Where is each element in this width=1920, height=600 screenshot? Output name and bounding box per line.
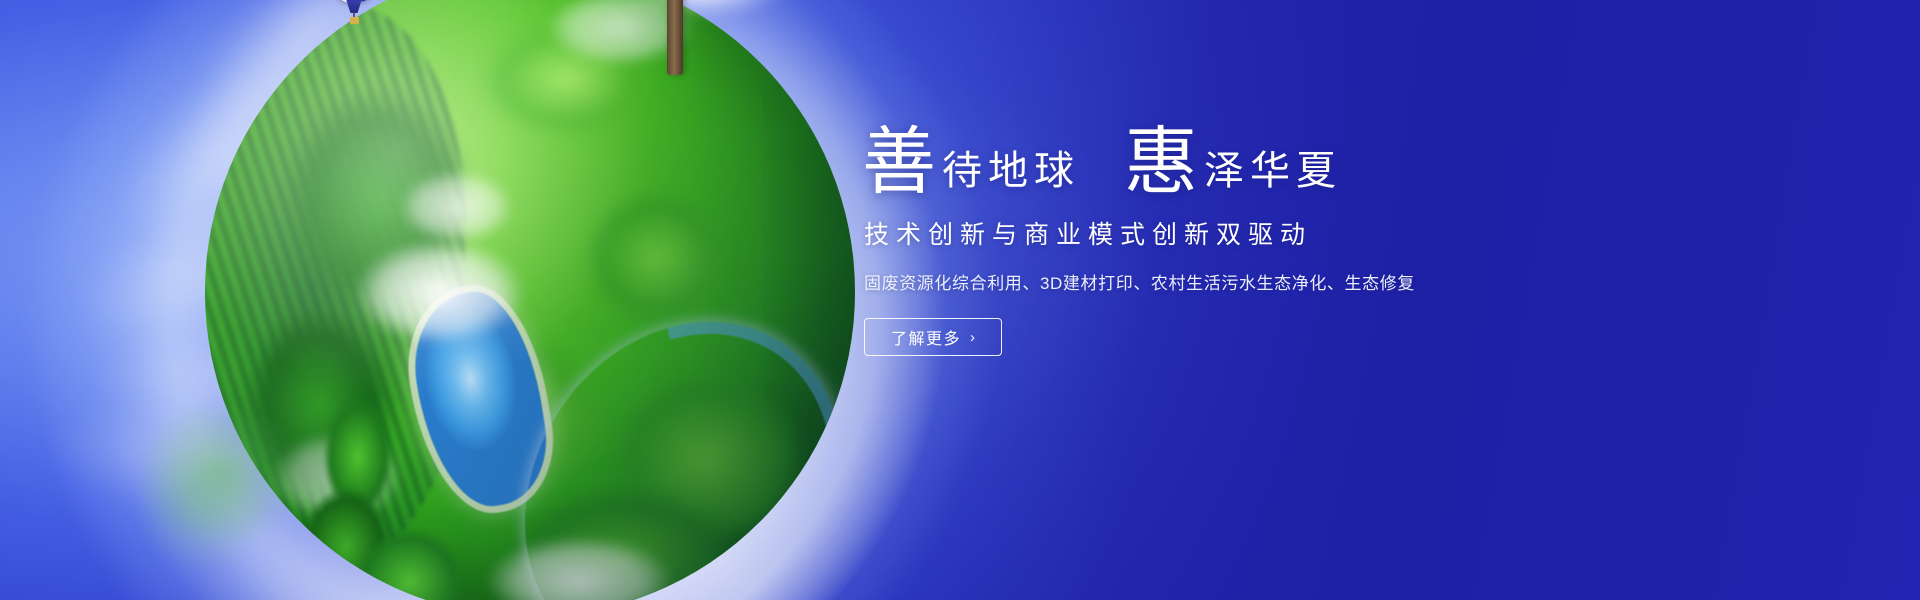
chevron-right-icon: › bbox=[970, 329, 975, 346]
atmosphere-ring-icon bbox=[85, 0, 945, 600]
balloon-rope bbox=[353, 12, 355, 19]
learn-more-button[interactable]: 了解更多 › bbox=[864, 318, 1002, 356]
cloud-streak-icon bbox=[48, 263, 493, 472]
birds-flock-icon: ︶ ︶ ︶ ︶ ︶ ︶ ︶ ︶ ︶ ︶ ︶ ︶ bbox=[715, 0, 855, 15]
small-tree-icon bbox=[355, 527, 465, 600]
river-icon bbox=[461, 262, 855, 600]
hero-description: 固废资源化综合利用、3D建材打印、农村生活污水生态净化、生态修复 bbox=[864, 269, 1502, 294]
tree-mist bbox=[595, 0, 815, 25]
headline-small-text-2: 泽华夏 bbox=[1204, 149, 1342, 199]
grass-patch-icon bbox=[244, 305, 394, 505]
balloon-basket bbox=[350, 17, 359, 24]
grass-patch-icon bbox=[504, 487, 744, 600]
hero-banner: ︶ ︶ ︶ ︶ ︶ ︶ ︶ ︶ ︶ ︶ ︶ ︶ 善 待地球 惠 泽华夏 技术创新… bbox=[0, 0, 1920, 600]
small-tree-icon bbox=[323, 397, 393, 517]
balloon-skirt bbox=[346, 0, 362, 13]
grass-patch-icon bbox=[478, 19, 658, 139]
cloud-streak-icon bbox=[121, 0, 489, 206]
tree-icon bbox=[555, 0, 805, 75]
headline-group-2: 惠 泽华夏 bbox=[1124, 128, 1342, 199]
grass-patch-icon bbox=[400, 331, 610, 501]
green-earth-globe-icon bbox=[205, 0, 855, 600]
cloud-icon bbox=[465, 526, 695, 600]
grass-patch-icon bbox=[608, 370, 808, 550]
grass-patch-icon bbox=[582, 188, 732, 328]
grass-patch-icon bbox=[283, 84, 473, 314]
lake-icon bbox=[403, 284, 555, 515]
cloud-icon bbox=[335, 227, 545, 357]
hero-content: 善 待地球 惠 泽华夏 技术创新与商业模式创新双驱动 固废资源化综合利用、3D建… bbox=[862, 128, 1502, 356]
cloud-streak-icon bbox=[0, 363, 432, 556]
silhouette-tree-icon bbox=[105, 370, 335, 600]
page-title: 善 待地球 惠 泽华夏 bbox=[862, 128, 1502, 199]
small-tree-icon bbox=[301, 487, 391, 600]
cloud-streak-icon bbox=[36, 0, 514, 334]
headline-big-char-2: 惠 bbox=[1124, 128, 1198, 199]
globe-image: ︶ ︶ ︶ ︶ ︶ ︶ ︶ ︶ ︶ ︶ ︶ ︶ bbox=[115, 0, 905, 600]
headline-group-1: 善 待地球 bbox=[862, 128, 1080, 199]
tree-crown bbox=[555, 0, 805, 5]
headline-big-char-1: 善 bbox=[862, 128, 936, 199]
atmosphere-halo-icon bbox=[35, 0, 985, 600]
forest-ridge-icon bbox=[205, 6, 465, 565]
hot-air-balloon-icon bbox=[331, 0, 377, 33]
cloud-streak-icon bbox=[4, 107, 515, 412]
learn-more-label: 了解更多 bbox=[891, 325, 961, 349]
cloud-icon bbox=[530, 0, 710, 75]
bird-icon: ︶ bbox=[779, 0, 788, 2]
hero-subtitle: 技术创新与商业模式创新双驱动 bbox=[864, 215, 1502, 251]
balloon-envelope bbox=[331, 0, 377, 3]
cloud-icon bbox=[387, 162, 527, 252]
tree-trunk bbox=[667, 0, 683, 75]
cloud-icon bbox=[257, 422, 417, 532]
headline-small-text-1: 待地球 bbox=[942, 149, 1080, 199]
